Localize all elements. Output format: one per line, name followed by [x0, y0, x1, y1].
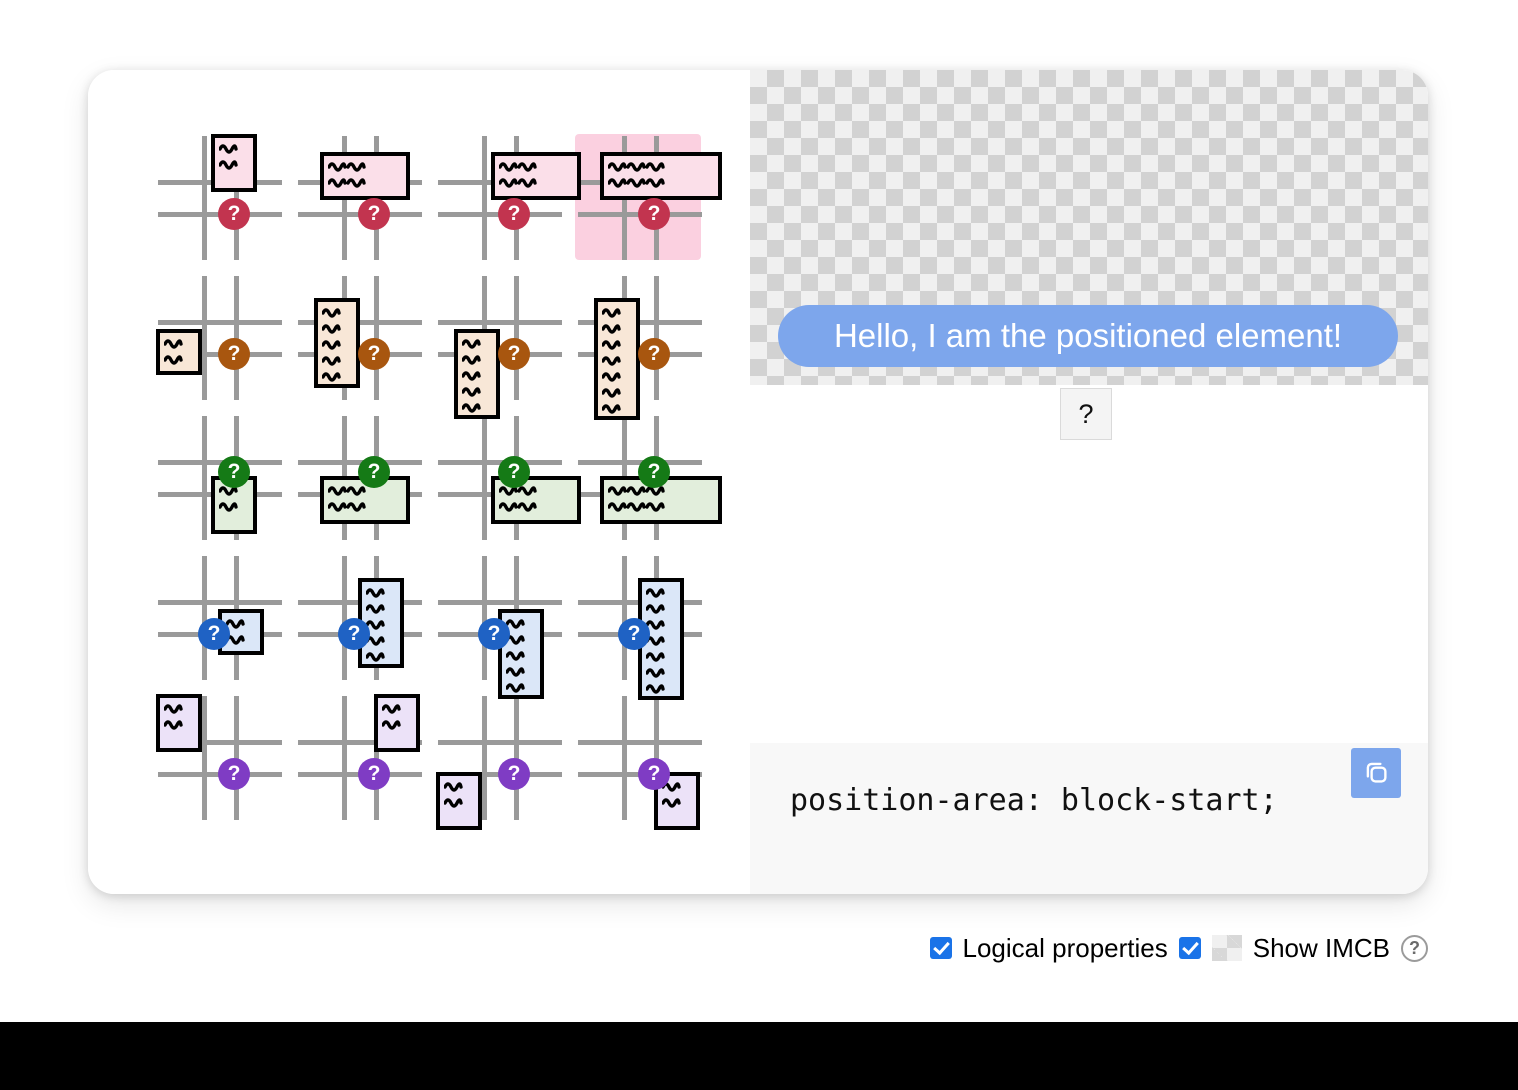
- position-area-option-block-end-2[interactable]: ?: [288, 408, 428, 548]
- anchor-question-marker: ?: [218, 758, 250, 790]
- logical-properties-label: Logical properties: [963, 933, 1168, 964]
- position-area-picker: ????????????????????: [88, 70, 750, 894]
- positioned-box-preview: [600, 152, 722, 200]
- anchor-question-marker: ?: [218, 456, 250, 488]
- positioned-box-preview: [156, 694, 202, 752]
- positioned-box-preview: [374, 694, 420, 752]
- anchor-question-marker: ?: [638, 198, 670, 230]
- show-imcb-label: Show IMCB: [1253, 933, 1390, 964]
- copy-icon: [1361, 757, 1391, 790]
- anchor-question-marker: ?: [218, 198, 250, 230]
- position-area-option-block-start-4[interactable]: ?: [568, 128, 708, 268]
- copy-button[interactable]: [1351, 748, 1401, 798]
- position-area-option-block-end-1[interactable]: ?: [148, 408, 288, 548]
- position-area-option-inline-start-3[interactable]: ?: [428, 268, 568, 408]
- positioned-element: Hello, I am the positioned element!: [778, 305, 1398, 367]
- anchor-question-marker: ?: [638, 338, 670, 370]
- positioned-box-preview: [436, 772, 482, 830]
- anchor-question-marker: ?: [358, 338, 390, 370]
- anchor-question-marker: ?: [358, 758, 390, 790]
- position-area-icon-grid[interactable]: ????????????????????: [148, 128, 708, 828]
- positioned-box-preview: [156, 329, 202, 375]
- demo-card: ???????????????????? Hello, I am the pos…: [88, 70, 1428, 894]
- position-area-option-inline-end-4[interactable]: ?: [568, 548, 708, 688]
- anchor-question-marker: ?: [618, 618, 650, 650]
- anchor-question-marker: ?: [498, 758, 530, 790]
- position-area-option-inline-end-1[interactable]: ?: [148, 548, 288, 688]
- positioned-box-preview: [211, 134, 257, 192]
- position-area-option-corners-4[interactable]: ?: [568, 688, 708, 828]
- css-declaration: position-area: block-start;: [790, 783, 1278, 818]
- position-area-option-inline-end-3[interactable]: ?: [428, 548, 568, 688]
- anchor-question-marker: ?: [498, 338, 530, 370]
- position-area-option-corners-1[interactable]: ?: [148, 688, 288, 828]
- preview-pane: Hello, I am the positioned element! ? po…: [750, 70, 1428, 894]
- position-area-option-block-end-4[interactable]: ?: [568, 408, 708, 548]
- position-area-option-inline-end-2[interactable]: ?: [288, 548, 428, 688]
- bottom-letterbox-bar: [0, 1022, 1518, 1090]
- positioned-box-preview: [491, 152, 581, 200]
- position-area-option-block-start-3[interactable]: ?: [428, 128, 568, 268]
- positioned-box-preview: [314, 298, 360, 388]
- logical-properties-checkbox[interactable]: [930, 937, 952, 959]
- anchor-question-marker: ?: [218, 338, 250, 370]
- show-imcb-checkbox[interactable]: [1179, 937, 1201, 959]
- position-area-option-inline-start-4[interactable]: ?: [568, 268, 708, 408]
- anchor-question-marker: ?: [358, 456, 390, 488]
- anchor-question-marker: ?: [498, 198, 530, 230]
- logical-properties-control[interactable]: Logical properties: [930, 933, 1168, 964]
- position-area-option-inline-start-2[interactable]: ?: [288, 268, 428, 408]
- anchor-question-marker: ?: [478, 618, 510, 650]
- anchor-element[interactable]: ?: [1060, 388, 1112, 440]
- footer-controls: Logical properties Show IMCB ?: [0, 918, 1428, 978]
- positioned-box-preview: [594, 298, 640, 420]
- positioned-box-preview: [454, 329, 500, 419]
- anchor-question-marker: ?: [338, 618, 370, 650]
- positioned-box-preview: [320, 152, 410, 200]
- position-area-option-corners-3[interactable]: ?: [428, 688, 568, 828]
- checkerboard-swatch-icon: [1212, 935, 1242, 961]
- anchor-question-marker: ?: [638, 456, 670, 488]
- help-icon[interactable]: ?: [1401, 935, 1428, 962]
- position-area-option-block-start-2[interactable]: ?: [288, 128, 428, 268]
- code-output-panel: position-area: block-start;: [750, 743, 1428, 894]
- anchor-question-marker: ?: [358, 198, 390, 230]
- position-area-option-block-end-3[interactable]: ?: [428, 408, 568, 548]
- position-area-option-inline-start-1[interactable]: ?: [148, 268, 288, 408]
- position-area-option-block-start-1[interactable]: ?: [148, 128, 288, 268]
- anchor-question-marker: ?: [498, 456, 530, 488]
- anchor-question-marker: ?: [198, 618, 230, 650]
- anchor-question-marker: ?: [638, 758, 670, 790]
- show-imcb-control[interactable]: Show IMCB: [1179, 933, 1390, 964]
- position-area-option-corners-2[interactable]: ?: [288, 688, 428, 828]
- screenshot-root: ???????????????????? Hello, I am the pos…: [0, 0, 1518, 1090]
